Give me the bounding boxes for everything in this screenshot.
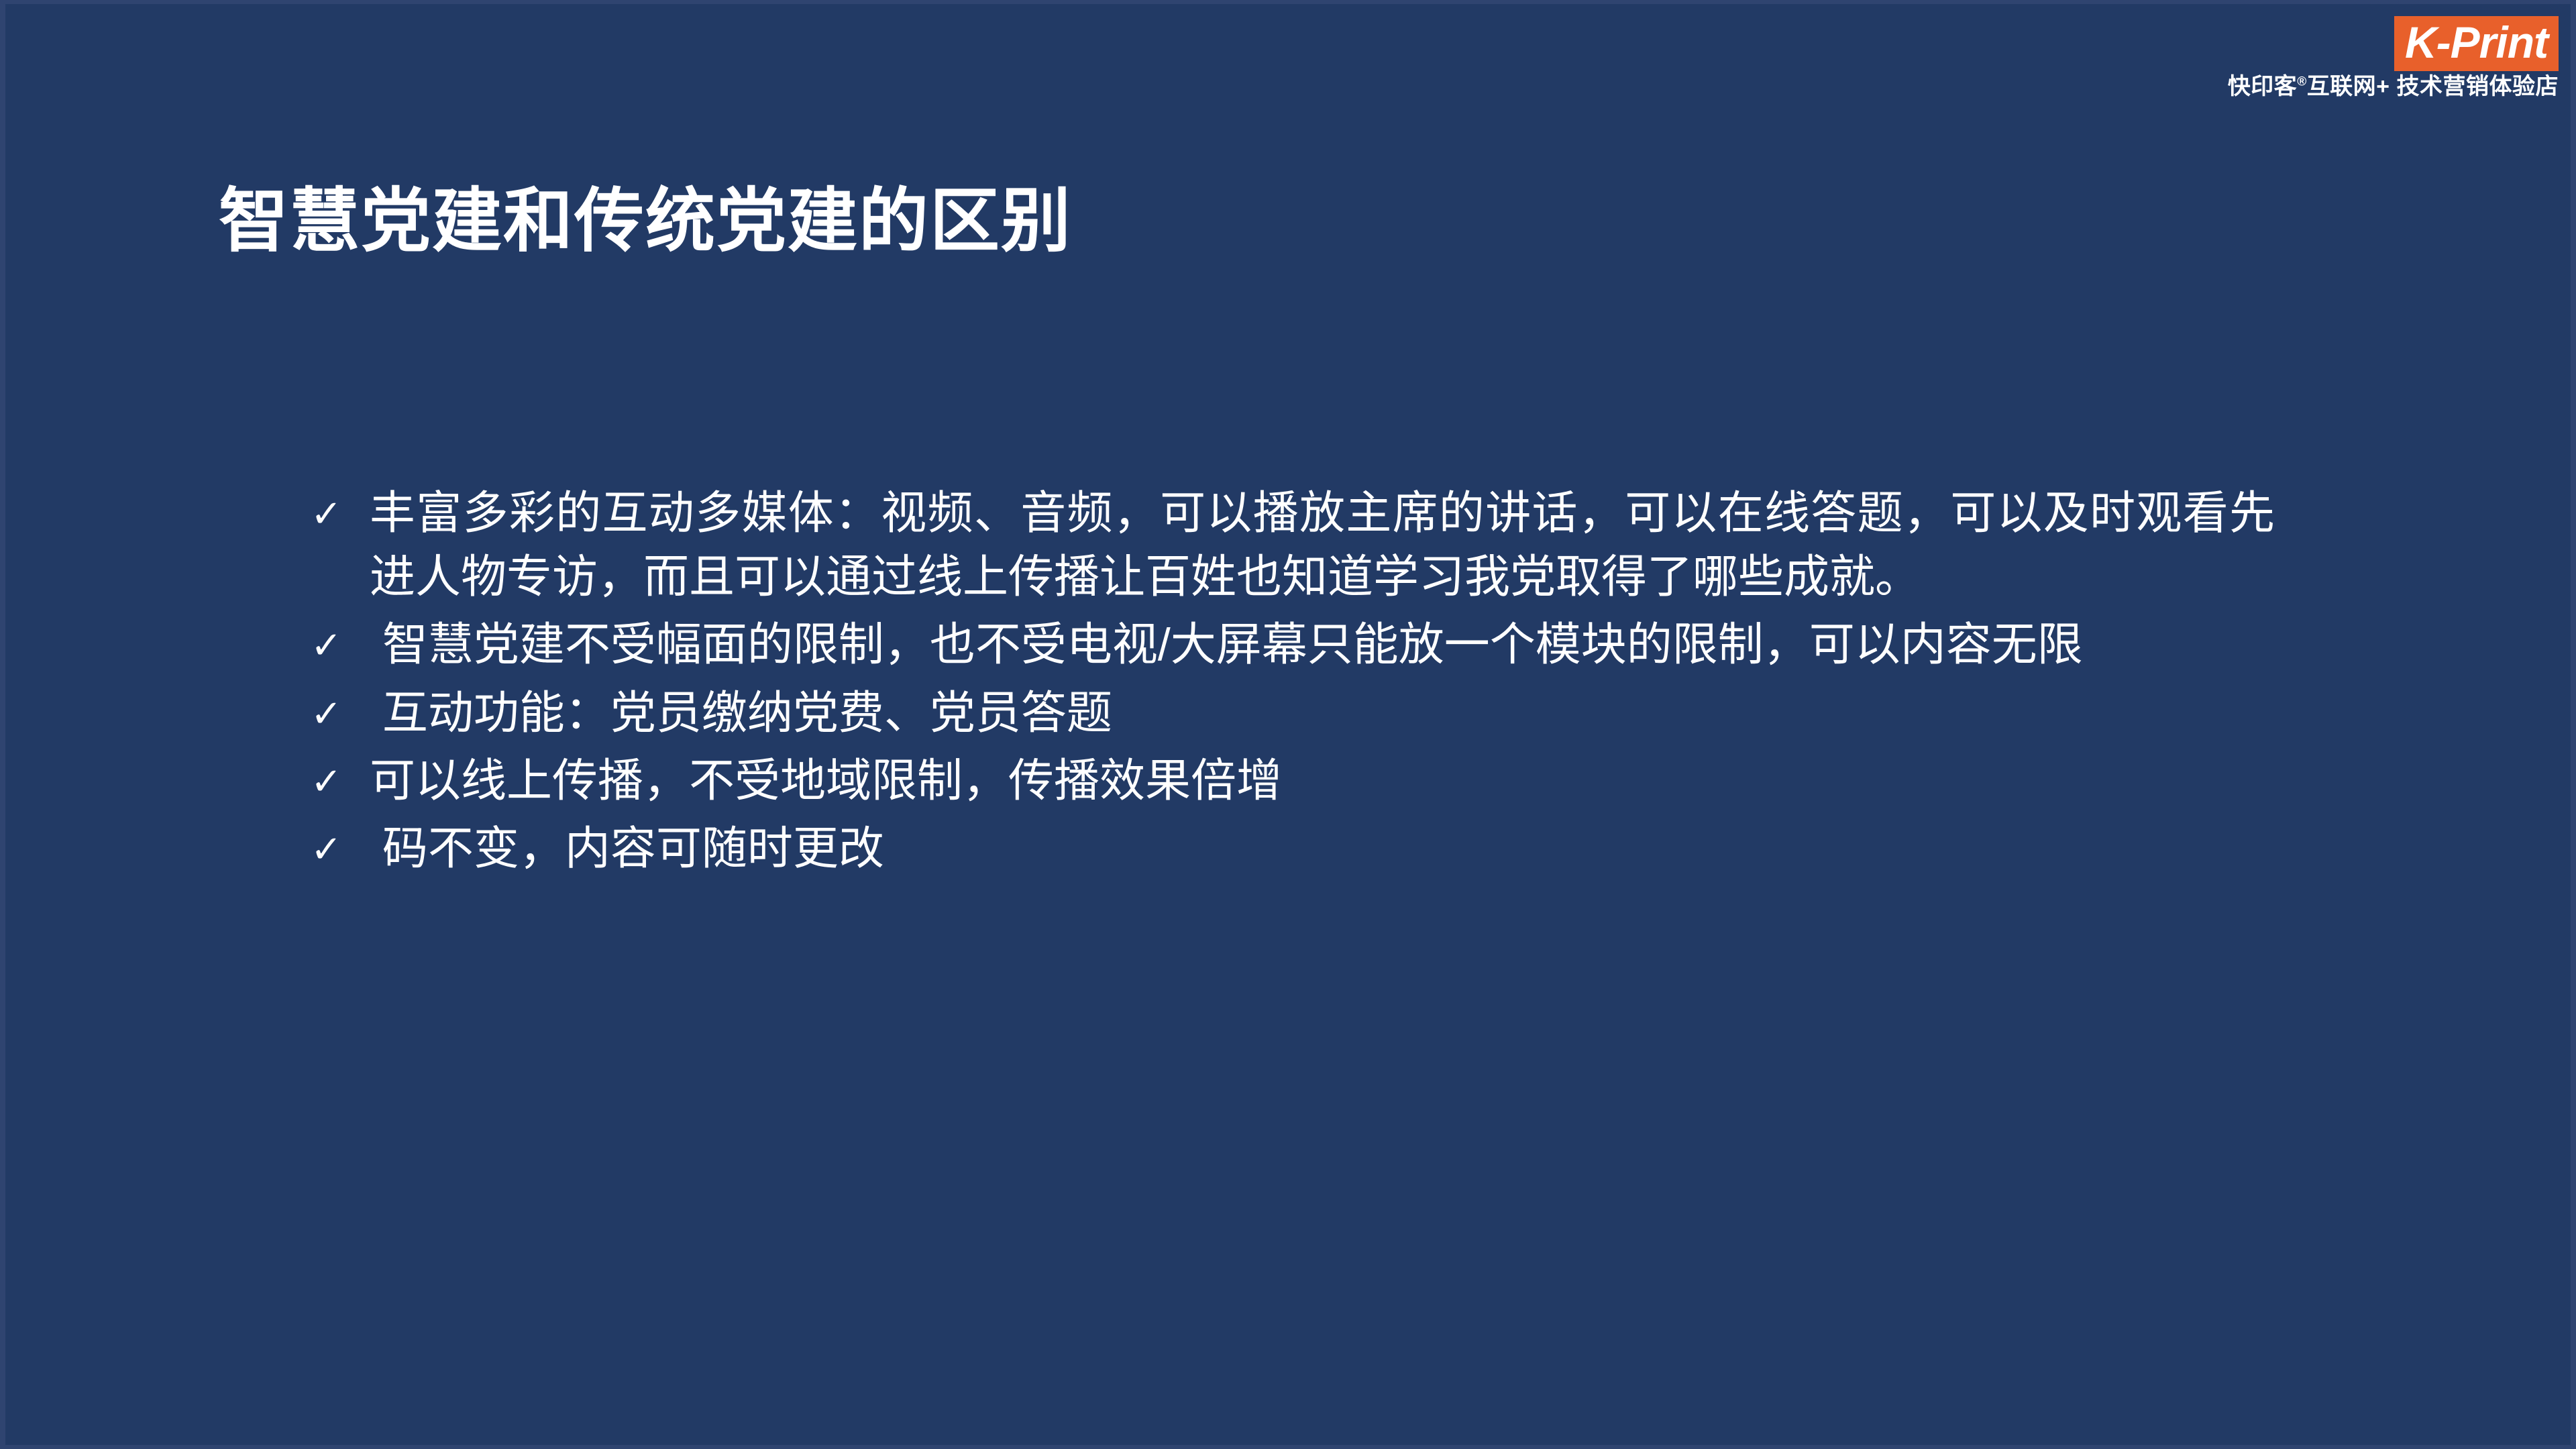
check-icon: ✓ [311, 482, 370, 545]
list-item: ✓ 智慧党建不受幅面的限制，也不受电视/大屏幕只能放一个模块的限制，可以内容无限 [311, 613, 2337, 677]
bullet-list: ✓ 丰富多彩的互动多媒体：视频、音频，可以播放主席的讲话，可以在线答题，可以及时… [311, 482, 2337, 885]
slide-canvas: K-Print 快印客®互联网+ 技术营销体验店 智慧党建和传统党建的区别 ✓ … [5, 4, 2571, 1445]
list-item: ✓ 丰富多彩的互动多媒体：视频、音频，可以播放主席的讲话，可以在线答题，可以及时… [311, 482, 2337, 609]
brand-tagline-text: 互联网+ 技术营销体验店 [2307, 74, 2559, 99]
brand-tagline-row: 快印客®互联网+ 技术营销体验店 [2223, 75, 2559, 98]
list-item-text: 可以线上传播，不受地域限制，传播效果倍增 [370, 749, 2275, 813]
registered-trademark-icon: ® [2297, 75, 2307, 89]
check-icon: ✓ [311, 749, 370, 813]
check-icon: ✓ [311, 682, 370, 745]
list-item-text: 丰富多彩的互动多媒体：视频、音频，可以播放主席的讲话，可以在线答题，可以及时观看… [370, 482, 2275, 609]
list-item: ✓ 可以线上传播，不受地域限制，传播效果倍增 [311, 749, 2337, 813]
list-item-text: 智慧党建不受幅面的限制，也不受电视/大屏幕只能放一个模块的限制，可以内容无限 [370, 613, 2275, 677]
list-item: ✓ 互动功能：党员缴纳党费、党员答题 [311, 682, 2337, 745]
brand-logo: K-Print 快印客®互联网+ 技术营销体验店 [2223, 16, 2559, 98]
page-title: 智慧党建和传统党建的区别 [219, 164, 1072, 265]
list-item-text: 互动功能：党员缴纳党费、党员答题 [370, 682, 2275, 745]
check-icon: ✓ [311, 613, 370, 677]
check-icon: ✓ [311, 817, 370, 881]
list-item: ✓ 码不变，内容可随时更改 [311, 817, 2337, 881]
brand-name-text: 快印客 [2228, 74, 2298, 99]
kprint-logo-badge: K-Print [2394, 16, 2559, 71]
list-item-text: 码不变，内容可随时更改 [370, 817, 2275, 881]
